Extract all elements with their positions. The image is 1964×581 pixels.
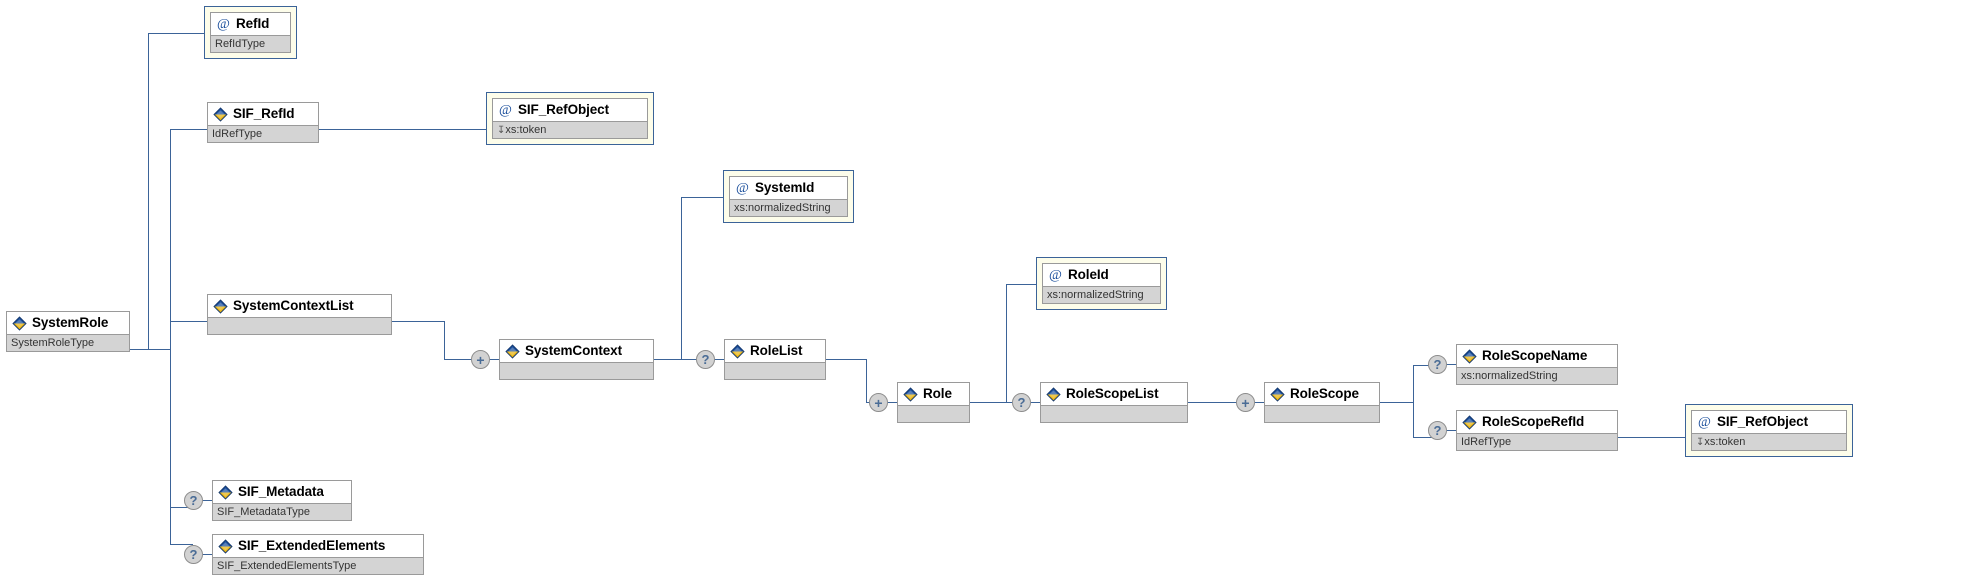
- node-title: Role: [898, 383, 969, 405]
- node-title: SystemRole: [7, 312, 129, 334]
- node-title: RoleList: [725, 340, 825, 362]
- node-label: SIF_ExtendedElements: [238, 539, 385, 553]
- node-sif_refid[interactable]: SIF_RefIdIdRefType: [207, 102, 319, 143]
- connector: [170, 129, 171, 544]
- attribute-at-icon: @: [735, 181, 750, 196]
- node-type: ↧xs:token: [1692, 433, 1846, 450]
- node-type: xs:normalizedString: [730, 199, 847, 216]
- optional-question-badge-icon: ?: [1428, 421, 1447, 440]
- connector: [866, 359, 867, 402]
- node-title: SIF_RefId: [208, 103, 318, 125]
- node-systemcontextlist[interactable]: SystemContextList: [207, 294, 392, 335]
- element-diamond-icon: [1462, 349, 1477, 364]
- optional-question-badge-icon: ?: [1012, 393, 1031, 412]
- element-diamond-icon: [213, 107, 228, 122]
- connector: [681, 197, 682, 359]
- node-title: RoleScope: [1265, 383, 1379, 405]
- node-label: SystemContext: [525, 344, 622, 358]
- node-inner: @SIF_RefObject↧xs:token: [1691, 410, 1847, 451]
- node-label: RoleScopeRefId: [1482, 415, 1584, 429]
- connector: [1031, 402, 1040, 403]
- node-title: @RoleId: [1043, 264, 1160, 286]
- node-sif_metadata[interactable]: SIF_MetadataSIF_MetadataType: [212, 480, 352, 521]
- element-diamond-icon: [903, 387, 918, 402]
- node-type: SystemRoleType: [7, 334, 129, 351]
- node-type: IdRefType: [1457, 433, 1617, 450]
- connector: [1447, 430, 1456, 431]
- node-systemid[interactable]: @SystemIdxs:normalizedString: [723, 170, 854, 223]
- optional-question-badge-icon: ?: [696, 350, 715, 369]
- node-type: [725, 362, 825, 379]
- node-inner: @RefIdRefIdType: [210, 12, 291, 53]
- node-inner: @RoleIdxs:normalizedString: [1042, 263, 1161, 304]
- node-title: SystemContext: [500, 340, 653, 362]
- element-diamond-icon: [505, 344, 520, 359]
- node-label: RoleScope: [1290, 387, 1359, 401]
- node-sif_refobject_top[interactable]: @SIF_RefObject↧xs:token: [486, 92, 654, 145]
- connector: [1413, 365, 1414, 437]
- optional-question-badge-icon: ?: [1428, 355, 1447, 374]
- node-label: RefId: [236, 17, 269, 31]
- node-title: RoleScopeRefId: [1457, 411, 1617, 433]
- node-inner: @SIF_RefObject↧xs:token: [492, 98, 648, 139]
- connector: [1255, 402, 1264, 403]
- node-type: SIF_ExtendedElementsType: [213, 557, 423, 574]
- node-title: @RefId: [211, 13, 290, 35]
- connector: [148, 33, 204, 34]
- node-type: xs:normalizedString: [1457, 367, 1617, 384]
- node-label: SIF_Metadata: [238, 485, 324, 499]
- element-diamond-icon: [12, 316, 27, 331]
- connector: [170, 321, 207, 322]
- node-rolescoperefid[interactable]: RoleScopeRefIdIdRefType: [1456, 410, 1618, 451]
- node-rolelist[interactable]: RoleList: [724, 339, 826, 380]
- node-type: [1041, 405, 1187, 422]
- node-rolescope[interactable]: RoleScope: [1264, 382, 1380, 423]
- node-type: xs:normalizedString: [1043, 286, 1160, 303]
- node-label: SIF_RefObject: [518, 103, 609, 117]
- node-type: [208, 317, 391, 334]
- node-title: @SIF_RefObject: [1692, 411, 1846, 433]
- connector: [130, 349, 148, 350]
- node-title: RoleScopeName: [1457, 345, 1617, 367]
- node-label: RoleScopeName: [1482, 349, 1587, 363]
- attribute-at-icon: @: [1697, 415, 1712, 430]
- node-label: Role: [923, 387, 952, 401]
- element-diamond-icon: [218, 485, 233, 500]
- element-diamond-icon: [1270, 387, 1285, 402]
- node-type: [898, 405, 969, 422]
- attribute-at-icon: @: [498, 103, 513, 118]
- attribute-at-icon: @: [1048, 268, 1063, 283]
- node-role[interactable]: Role: [897, 382, 970, 423]
- element-diamond-icon: [218, 539, 233, 554]
- connector: [490, 359, 499, 360]
- node-title: SystemContextList: [208, 295, 391, 317]
- xsd-diagram-canvas: SystemRoleSystemRoleType@RefIdRefIdTypeS…: [0, 0, 1964, 581]
- sequence-plus-badge-icon: +: [869, 393, 888, 412]
- node-roleid[interactable]: @RoleIdxs:normalizedString: [1036, 257, 1167, 310]
- node-type: ↧xs:token: [493, 121, 647, 138]
- node-inner: @SystemIdxs:normalizedString: [729, 176, 848, 217]
- connector: [888, 402, 897, 403]
- node-title: @SIF_RefObject: [493, 99, 647, 121]
- node-label: RoleScopeList: [1066, 387, 1158, 401]
- node-label: SystemRole: [32, 316, 108, 330]
- connector: [1618, 437, 1685, 438]
- derived-down-arrow-icon: ↧: [1696, 437, 1704, 448]
- connector: [1006, 284, 1007, 402]
- node-type: SIF_MetadataType: [213, 503, 351, 520]
- node-label: SystemId: [755, 181, 814, 195]
- sequence-plus-badge-icon: +: [1236, 393, 1255, 412]
- element-diamond-icon: [1046, 387, 1061, 402]
- node-type: [1265, 405, 1379, 422]
- node-sif_extended[interactable]: SIF_ExtendedElementsSIF_ExtendedElements…: [212, 534, 424, 575]
- node-type: IdRefType: [208, 125, 318, 142]
- element-diamond-icon: [730, 344, 745, 359]
- node-refid[interactable]: @RefIdRefIdType: [204, 6, 297, 59]
- connector: [203, 554, 212, 555]
- connector: [392, 321, 444, 322]
- connector: [1447, 364, 1456, 365]
- attribute-at-icon: @: [216, 17, 231, 32]
- node-label: SIF_RefObject: [1717, 415, 1808, 429]
- node-label: SIF_RefId: [233, 107, 294, 121]
- node-systemrole[interactable]: SystemRoleSystemRoleType: [6, 311, 130, 352]
- element-diamond-icon: [1462, 415, 1477, 430]
- connector: [203, 500, 212, 501]
- node-label: SystemContextList: [233, 299, 354, 313]
- node-label: RoleList: [750, 344, 802, 358]
- node-sif_refobject_bot[interactable]: @SIF_RefObject↧xs:token: [1685, 404, 1853, 457]
- connector: [444, 321, 445, 359]
- connector: [715, 359, 724, 360]
- node-type: [500, 362, 653, 379]
- node-label: RoleId: [1068, 268, 1109, 282]
- node-title: RoleScopeList: [1041, 383, 1187, 405]
- node-rolescopename[interactable]: RoleScopeNamexs:normalizedString: [1456, 344, 1618, 385]
- node-title: SIF_Metadata: [213, 481, 351, 503]
- node-type: RefIdType: [211, 35, 290, 52]
- optional-question-badge-icon: ?: [184, 545, 203, 564]
- connector: [148, 349, 170, 350]
- element-diamond-icon: [213, 299, 228, 314]
- connector: [681, 197, 723, 198]
- connector: [1380, 402, 1413, 403]
- sequence-plus-badge-icon: +: [471, 350, 490, 369]
- connector: [319, 129, 486, 130]
- node-systemcontext[interactable]: SystemContext: [499, 339, 654, 380]
- node-title: @SystemId: [730, 177, 847, 199]
- optional-question-badge-icon: ?: [184, 491, 203, 510]
- connector: [148, 33, 149, 350]
- node-rolescopelist[interactable]: RoleScopeList: [1040, 382, 1188, 423]
- derived-down-arrow-icon: ↧: [497, 125, 505, 136]
- connector: [826, 359, 866, 360]
- connector: [1006, 284, 1036, 285]
- connector: [170, 129, 207, 130]
- node-title: SIF_ExtendedElements: [213, 535, 423, 557]
